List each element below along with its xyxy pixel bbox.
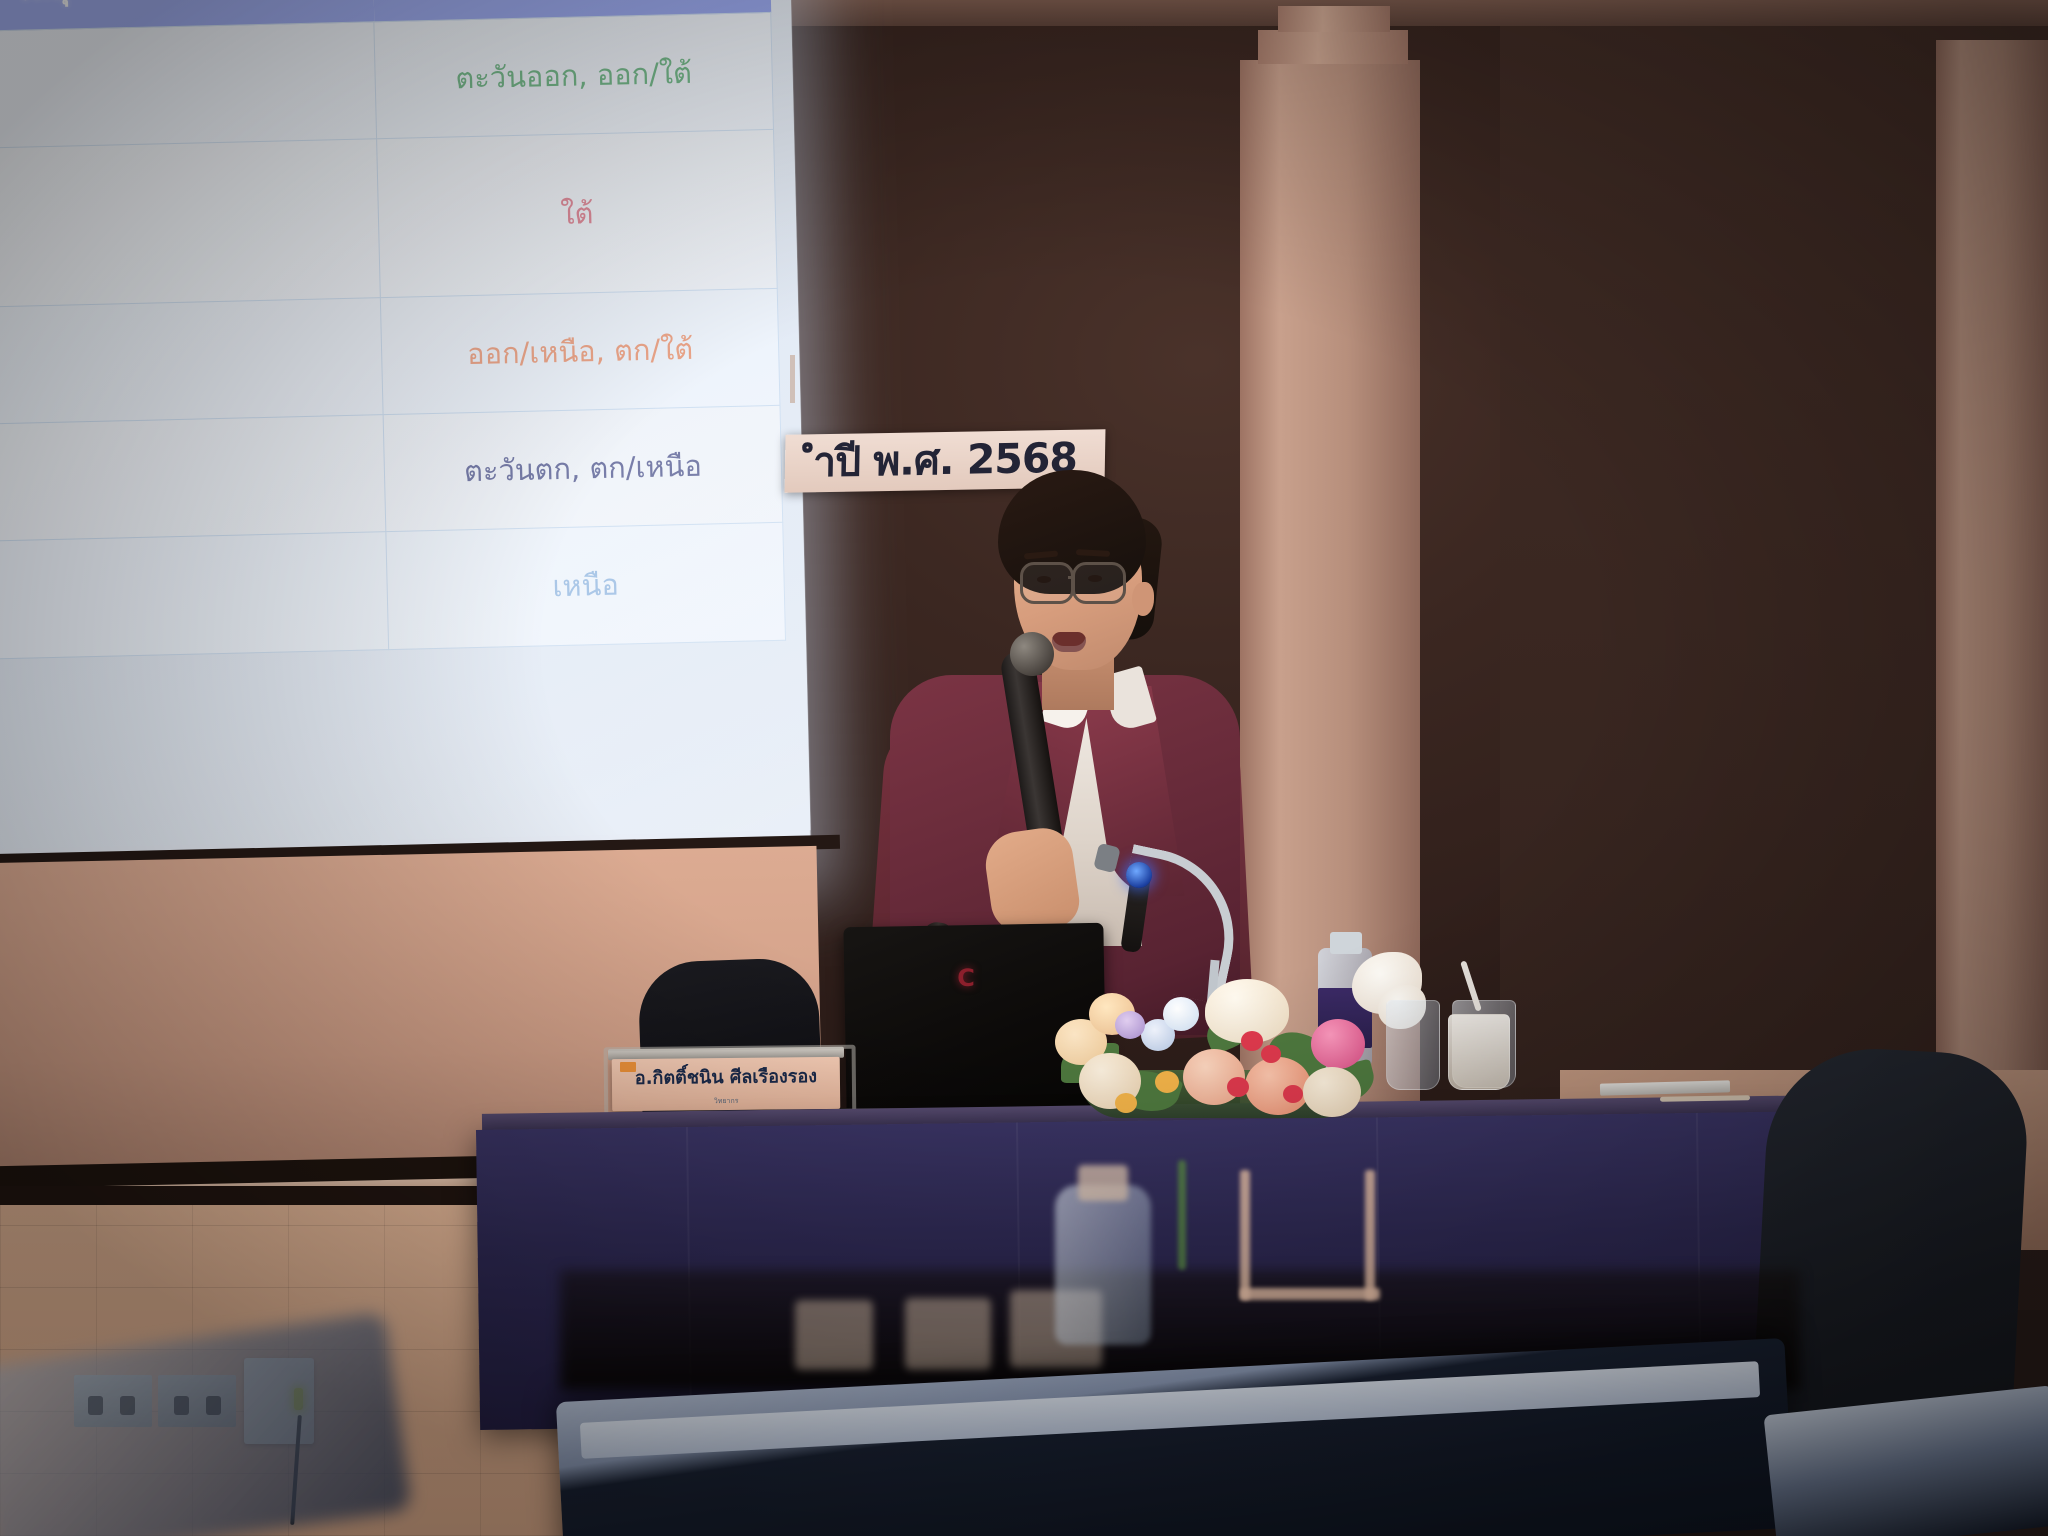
- flower-red-tiny: [1283, 1085, 1303, 1103]
- foreground-stand-leg-right: [1365, 1170, 1375, 1300]
- speaker-hand-holding-mic: [981, 824, 1082, 935]
- flower-arrangement: [1055, 975, 1395, 1115]
- flower-red-tiny: [1261, 1045, 1281, 1063]
- speaker-mouth: [1052, 632, 1086, 652]
- cell-direction: ตะวันออก, ออก/ใต้: [374, 12, 774, 138]
- speaker-eye-right: [1088, 575, 1102, 582]
- cell-item: น หรือแพลทินัม น ควอตซ์ขาว: [0, 415, 386, 548]
- pillar-right: [1936, 40, 2048, 1100]
- cell-item: สดุใสหรือสะท้อน รือ ไขมุก: [0, 532, 389, 665]
- eyeglasses-lens-left: [1020, 562, 1074, 604]
- slide-table: วัตถุ ทิศ นอาเกตสีเขียว ดอกไม้ ตะวันออก,…: [0, 0, 786, 665]
- foreground-plant-stem: [1178, 1160, 1186, 1270]
- speaker-eye-left: [1037, 576, 1051, 583]
- cell-direction: ตะวันตก, ตก/เหนือ: [383, 406, 783, 532]
- flower-white-small: [1163, 997, 1199, 1031]
- napkin-in-cup: [1448, 1014, 1510, 1090]
- water-bottle-cap: [1330, 932, 1362, 954]
- flower-cream-rose: [1303, 1067, 1361, 1117]
- slide-content: วัตถุ ทิศ นอาเกตสีเขียว ดอกไม้ ตะวันออก,…: [0, 0, 811, 850]
- flower-pink: [1311, 1019, 1365, 1069]
- backdrop-decoration-tick: [790, 355, 795, 403]
- pillar-center-cap: [1258, 30, 1408, 64]
- eyeglasses-bridge: [1068, 576, 1074, 579]
- cell-item: นอาเกตสีเขียว ดอกไม้: [0, 22, 377, 155]
- cell-direction: ออก/เหนือ, ตก/ใต้: [380, 289, 780, 415]
- flower-red-tiny: [1241, 1031, 1263, 1051]
- foreground-bottle-cap: [1078, 1165, 1128, 1201]
- photo-scene: วัตถุ ทิศ นอาเกตสีเขียว ดอกไม้ ตะวันออก,…: [0, 0, 2048, 1536]
- foreground-cup: [905, 1298, 991, 1370]
- cell-item: น้ำตาล เหลือง ลาย: [0, 298, 383, 431]
- table-row: สดุใสหรือสะท้อน รือ ไขมุก เหนือ: [0, 523, 786, 665]
- foreground-stand-leg-left: [1240, 1170, 1250, 1300]
- projection-screen: วัตถุ ทิศ นอาเกตสีเขียว ดอกไม้ ตะวันออก,…: [0, 0, 811, 890]
- foreground-cup: [795, 1300, 873, 1370]
- flower-yellow-tiny: [1115, 1093, 1137, 1113]
- cell-direction: เหนือ: [386, 523, 786, 649]
- foreground-stand-base: [1240, 1288, 1380, 1300]
- laptop-brand-logo: C: [955, 965, 977, 991]
- foreground-water-bottle: [1055, 1185, 1151, 1345]
- cell-item: ทิม เพทายสีส้ม เครื่องประดับที่มีรูป เปล…: [0, 139, 380, 314]
- flower-yellow-tiny: [1155, 1071, 1179, 1093]
- cell-direction: ใต้: [377, 129, 778, 297]
- eyeglasses-lens-right: [1072, 562, 1126, 604]
- pillar-center-cap-top: [1278, 6, 1390, 32]
- flower-orange-rose: [1245, 1057, 1311, 1115]
- flower-purple-small: [1115, 1011, 1145, 1039]
- flower-red-tiny: [1227, 1077, 1249, 1097]
- table-row: ทิม เพทายสีส้ม เครื่องประดับที่มีรูป เปล…: [0, 129, 777, 313]
- speaker-ear: [1132, 582, 1154, 616]
